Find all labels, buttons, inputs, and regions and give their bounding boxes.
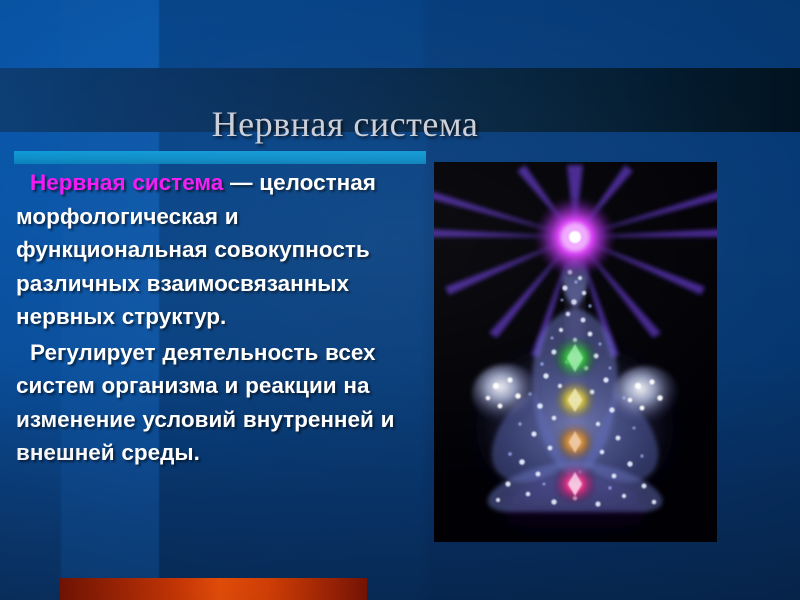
left-hand-orb xyxy=(472,364,540,424)
orange-footer-bar xyxy=(60,578,367,600)
cyan-accent-rule xyxy=(14,151,426,164)
paragraph-2: Регулирует деятельность всех систем орга… xyxy=(16,336,416,470)
right-hand-orb xyxy=(612,366,680,426)
paragraph-1-lead: Нервная система xyxy=(30,170,223,195)
crystalline-meditating-figure-image xyxy=(434,162,717,542)
presentation-slide: Нервная система Нервная система — целост… xyxy=(0,0,800,600)
figure-illustration xyxy=(434,162,717,542)
body-text-block: Нервная система — целостная морфологичес… xyxy=(16,166,416,472)
paragraph-1: Нервная система — целостная морфологичес… xyxy=(16,166,416,334)
crown-light xyxy=(533,195,617,279)
page-title: Нервная система xyxy=(0,94,690,154)
paragraph-2-rest: Регулирует деятельность всех систем орга… xyxy=(16,340,394,466)
